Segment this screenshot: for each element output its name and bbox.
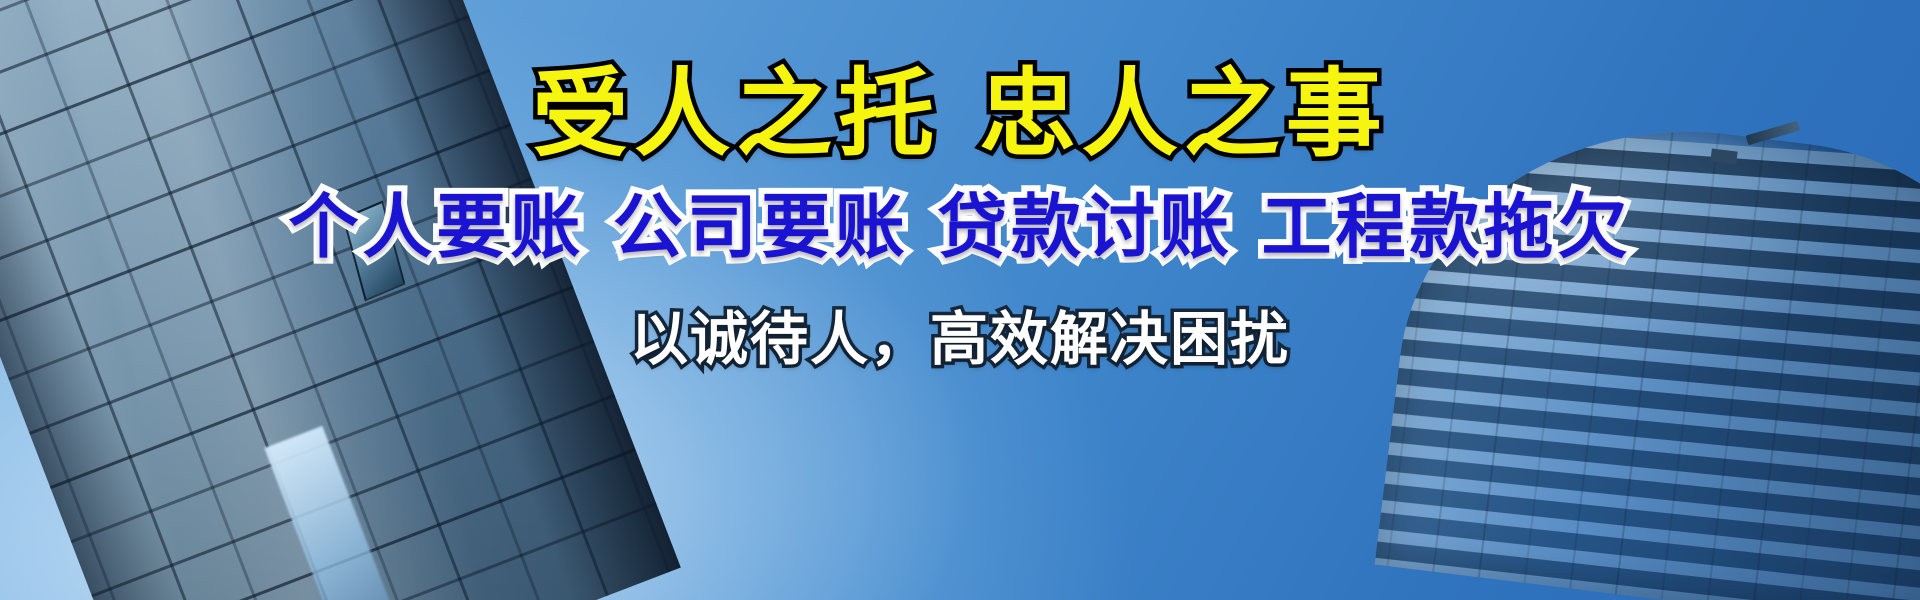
tagline-text: 以诚待人，高效解决困扰: [630, 308, 1290, 372]
services-text: 个人要账 公司要账 贷款讨账 工程款拖欠: [288, 191, 1631, 265]
promotional-banner: 受人之托 忠人之事 个人要账 公司要账 贷款讨账 工程款拖欠 以诚待人，高效解决…: [0, 0, 1920, 600]
banner-copy: 受人之托 忠人之事 个人要账 公司要账 贷款讨账 工程款拖欠 以诚待人，高效解决…: [0, 0, 1920, 600]
headline-text: 受人之托 忠人之事: [532, 64, 1387, 165]
